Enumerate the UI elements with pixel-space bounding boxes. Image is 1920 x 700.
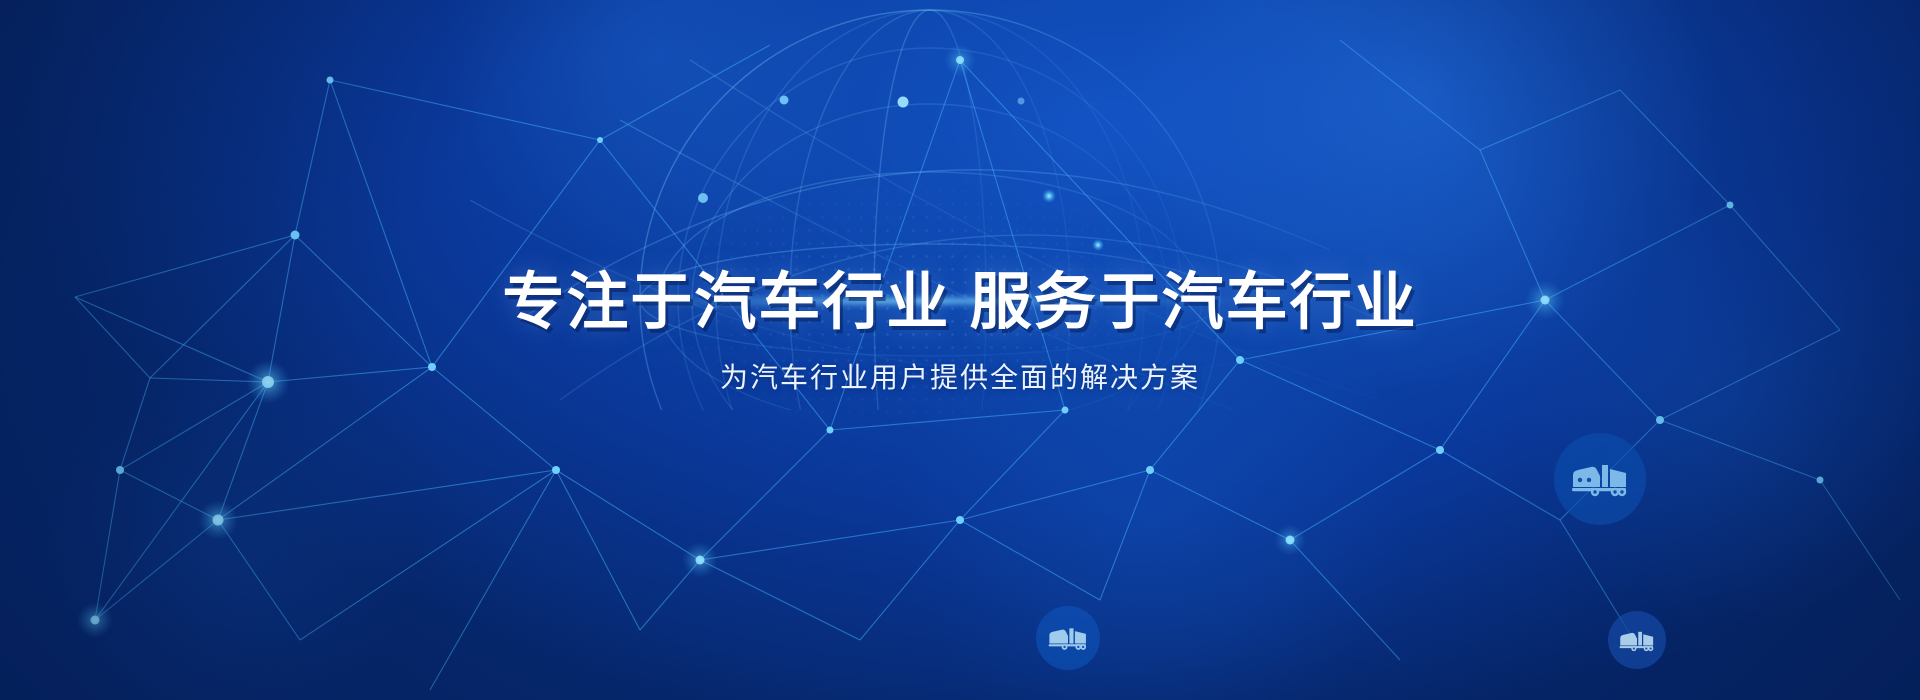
hero-headline: 专注于汽车行业 服务于汽车行业 — [502, 272, 1417, 334]
hero-text-block: 专注于汽车行业 服务于汽车行业 为汽车行业用户提供全面的解决方案 — [0, 0, 1920, 700]
hero-banner: 专注于汽车行业 服务于汽车行业 为汽车行业用户提供全面的解决方案 — [0, 0, 1920, 700]
hero-subheadline: 为汽车行业用户提供全面的解决方案 — [720, 364, 1200, 392]
